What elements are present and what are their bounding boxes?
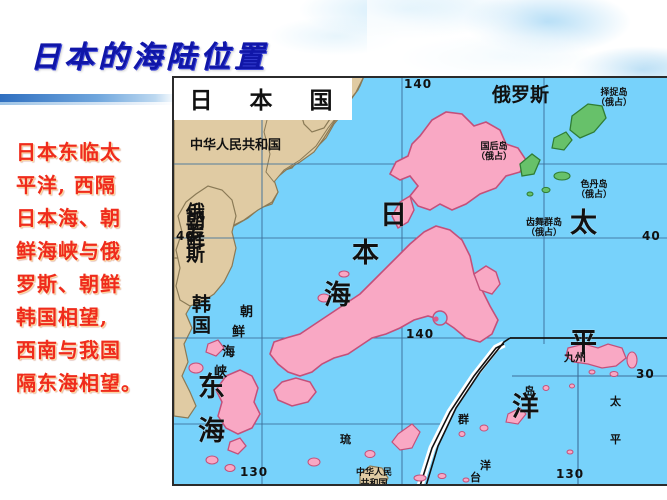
body-line: 日本东临太 [16,136,166,169]
label-russia-top: 俄罗斯 [492,86,549,105]
inset-label-kyushu: 九州 [564,352,586,363]
graticule-lon-140-top: 140 [404,78,432,90]
body-line: 西南与我国 [16,334,166,367]
label-korea-strait-2: 鲜 [232,326,245,339]
inset-label-pacific-3: 洋 [480,460,491,471]
inset-graticule-lon-130: 130 [556,468,584,480]
body-line: 韩国相望, [16,301,166,334]
label-kunashiri-island: 国后岛 （俄占） [476,142,512,162]
title-underline-bar-secondary [0,102,176,105]
inset-label-ryukyu-2: 群 [458,414,469,425]
label-shikotan-island: 色丹岛 （俄占） [576,180,612,200]
body-paragraph: 日本东临太 平洋, 西隔 日本海、朝 鲜海峡与俄 罗斯、朝鲜 韩国相望, 西南与… [16,136,166,400]
inset-label-pacific-2: 平 [610,434,621,445]
body-line: 罗斯、朝鲜 [16,268,166,301]
graticule-lat-40-left: 40 [176,230,195,242]
label-pacific-1: 太 [570,210,597,237]
title-underline-bar [0,94,176,102]
inset-label-ryukyu-1: 岛 [524,386,535,397]
graticule-lon-130-bottom: 130 [240,466,268,478]
inset-label-china: 中华人民 共和国 [356,468,392,486]
label-korea-strait-1: 朝 [240,306,253,319]
map-title-card: 日 本 国 [172,76,352,120]
page-title: 日本的海陆位置 [30,32,268,76]
slide-canvas: 日本的海陆位置 日本东临太 平洋, 西隔 日本海、朝 鲜海峡与俄 罗斯、朝鲜 韩… [0,0,667,500]
label-habomai-islands: 齿舞群岛 （俄占） [526,218,562,238]
inset-graticule-lat-30: 30 [636,368,655,380]
graticule-lat-40-right: 40 [642,230,661,242]
body-line: 鲜海峡与俄 [16,235,166,268]
label-south-korea: 韩国 [190,294,209,336]
inset-label-pacific-1: 太 [610,396,621,407]
japan-map: 中华人民共和国 俄罗斯 俄罗斯 朝鲜 韩国 日 本 海 太 平 洋 东 海 朝 … [172,76,667,486]
inset-label-ryukyu-3: 琉 [340,434,351,445]
label-etorofu-island: 择捉岛 （俄占） [596,88,632,108]
map-title-char-2: 本 [250,81,275,115]
label-sea-of-japan-2: 本 [352,240,379,267]
map-title-char-1: 日 [190,81,215,115]
label-sea-of-japan-1: 日 [380,202,407,229]
label-pacific-3: 洋 [512,394,539,421]
body-line: 平洋, 西隔 [16,169,166,202]
label-sea-of-japan-3: 海 [324,282,351,309]
inset-label-taiwan: 台 [470,472,481,483]
graticule-lon-140-mid: 140 [406,328,434,340]
label-korea-strait-4: 峡 [214,366,227,379]
label-china: 中华人民共和国 [190,138,281,153]
map-title-char-3: 国 [310,81,335,115]
label-east-china-sea-2: 海 [198,418,225,445]
body-line: 日本海、朝 [16,202,166,235]
label-korea-strait-3: 海 [222,346,235,359]
body-line: 隔东海相望。 [16,367,166,400]
